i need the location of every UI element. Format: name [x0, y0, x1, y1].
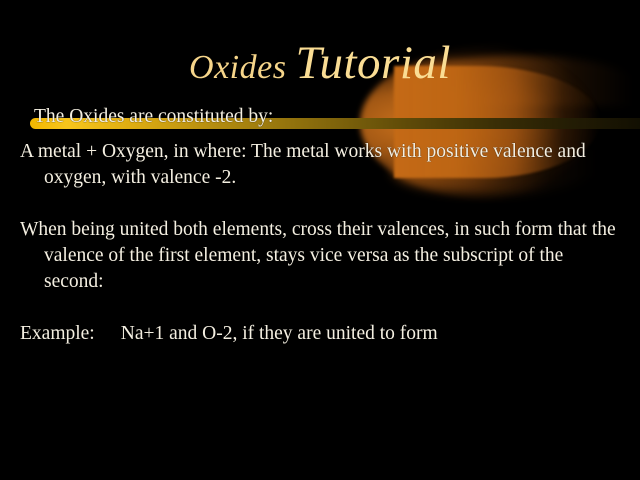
slide-body: The Oxides are constituted by: A metal +… — [20, 104, 624, 347]
title-word-oxides: Oxides — [189, 49, 286, 86]
slide-title: OxidesTutorial — [0, 40, 640, 87]
body-paragraph-headline: The Oxides are constituted by: — [20, 104, 624, 130]
slide-canvas: OxidesTutorial The Oxides are constitute… — [0, 0, 640, 480]
body-paragraph-rule: When being united both elements, cross t… — [20, 217, 624, 295]
example-label: Example: — [20, 323, 95, 344]
body-paragraph-definition: A metal + Oxygen, in where: The metal wo… — [20, 139, 624, 191]
title-word-tutorial: Tutorial — [295, 37, 451, 89]
example-content: Na+1 and O-2, if they are united to form — [121, 323, 438, 344]
body-paragraph-example: Example:Na+1 and O-2, if they are united… — [20, 321, 624, 347]
